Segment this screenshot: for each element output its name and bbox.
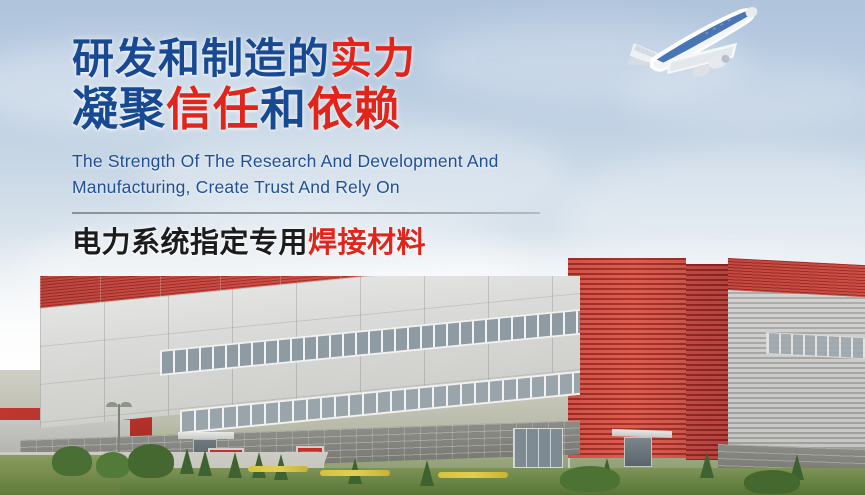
conifer-shrub: [198, 450, 212, 476]
shrub: [128, 444, 174, 478]
divider-rule: [72, 212, 540, 214]
secondary-door: [624, 437, 652, 467]
entrance-canopy: [178, 432, 234, 439]
subtitle-line-1: The Strength Of The Research And Develop…: [72, 148, 692, 174]
headline-line-2-navy-a: 凝聚: [72, 83, 166, 135]
glass-entrance-doors: [513, 428, 563, 468]
tagline-dark: 电力系统指定专用: [72, 227, 308, 259]
shrub: [96, 452, 130, 478]
tagline-red: 焊接材料: [308, 227, 426, 259]
red-corrugated-panel-side: [686, 264, 728, 460]
shrub: [52, 446, 92, 476]
conifer-shrub: [420, 460, 434, 486]
headline-line-1-red: 实力: [330, 35, 416, 82]
flower-bed: [438, 472, 508, 478]
lamp-head-icon: [120, 402, 132, 407]
subtitle-line-2: Manufacturing, Create Trust And Rely On: [72, 174, 692, 200]
shrub: [744, 470, 800, 494]
conifer-shrub: [180, 448, 194, 474]
hero-banner: 研发和制造的实力 凝聚信任和依赖 The Strength Of The Res…: [0, 0, 865, 495]
conifer-shrub: [700, 452, 714, 478]
headline-line-2-red-b: 依赖: [307, 83, 401, 135]
headline-line-1-navy: 研发和制造的: [72, 35, 330, 82]
conifer-shrub: [252, 452, 266, 478]
grey-corrugated-wall: [728, 272, 865, 458]
conifer-shrub: [228, 452, 242, 478]
red-corrugated-panel: [568, 258, 686, 458]
lamp-head-icon: [106, 402, 118, 407]
flower-bed: [320, 470, 390, 476]
headline-line-2: 凝聚信任和依赖: [72, 82, 692, 136]
banner-text-block: 研发和制造的实力 凝聚信任和依赖 The Strength Of The Res…: [72, 34, 692, 261]
headline-line-2-red-a: 信任: [166, 83, 260, 135]
flower-bed: [248, 466, 308, 472]
headline-line-1: 研发和制造的实力: [72, 34, 692, 84]
tagline: 电力系统指定专用焊接材料: [72, 225, 692, 261]
headline-line-2-navy-b: 和: [260, 83, 307, 135]
factory-building-right-wing: [568, 258, 865, 473]
subtitle-block: The Strength Of The Research And Develop…: [72, 148, 692, 200]
shrub: [560, 466, 620, 492]
